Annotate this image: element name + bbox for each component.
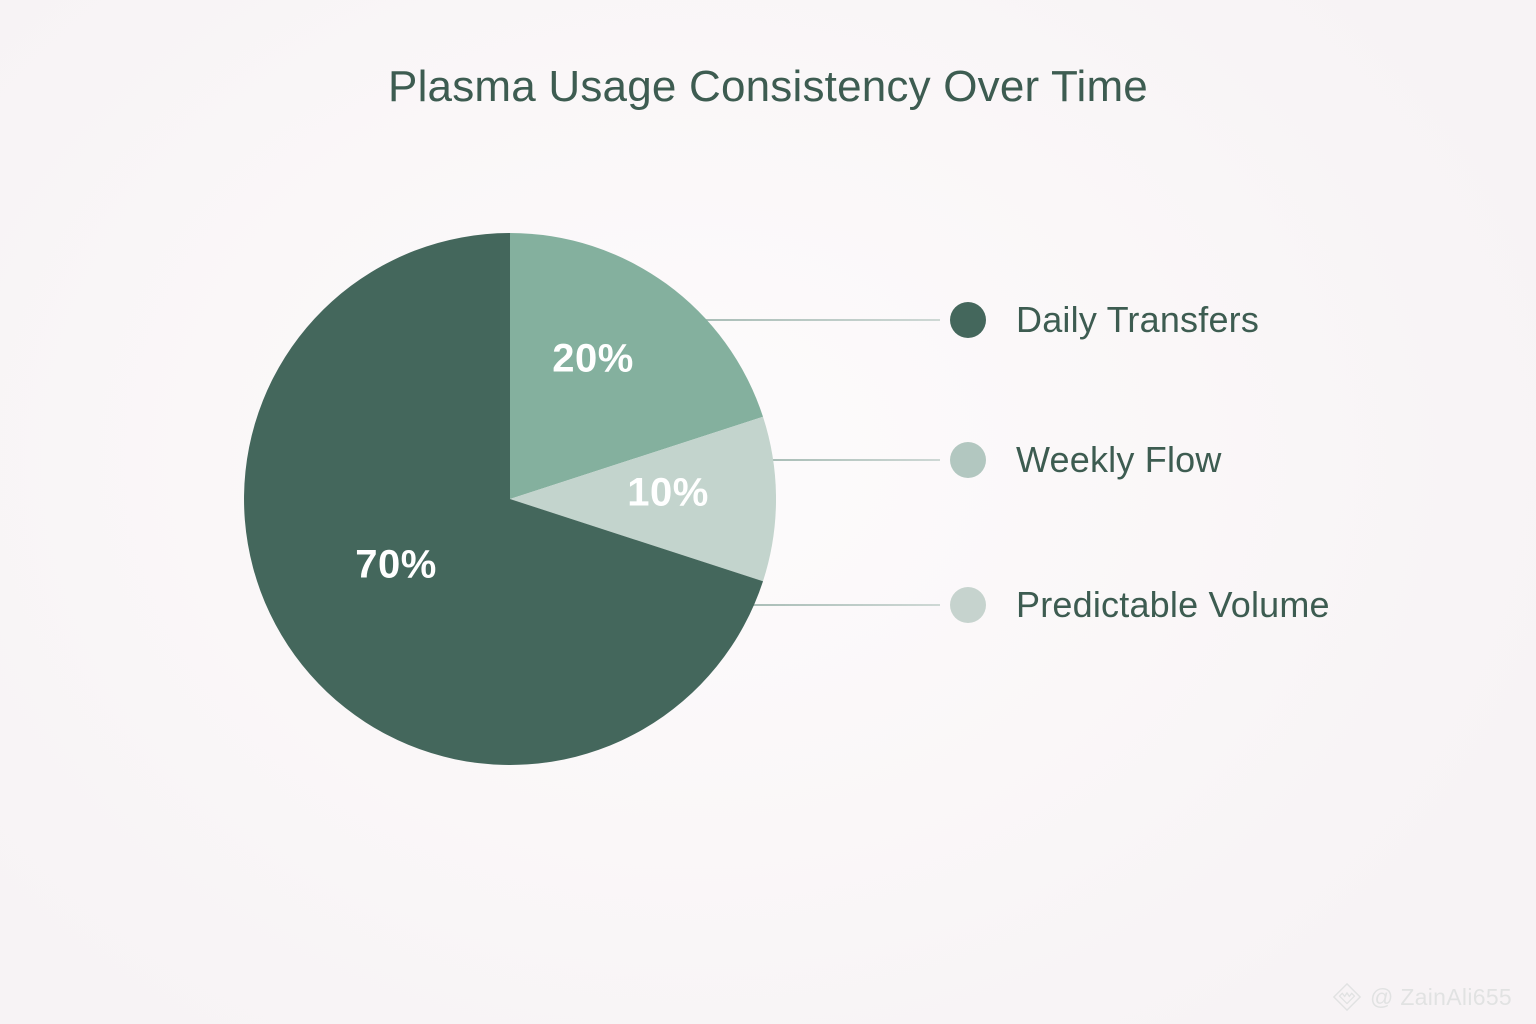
pie-label-weekly-flow: 20% <box>552 337 634 381</box>
pie-label-daily-transfers: 70% <box>355 543 437 587</box>
legend-swatch-icon <box>950 587 986 623</box>
page-title: Plasma Usage Consistency Over Time <box>0 62 1536 112</box>
watermark: @ ZainAli655 <box>1332 982 1512 1012</box>
legend-item-weekly-flow[interactable]: Weekly Flow <box>950 430 1222 490</box>
legend-item-label: Predictable Volume <box>1016 584 1330 626</box>
pie-label-predictable-volume: 10% <box>627 471 709 515</box>
pie-chart: 20% 10% 70% <box>244 233 776 765</box>
leader-line-weekly-flow <box>772 459 940 461</box>
legend-item-label: Daily Transfers <box>1016 299 1259 341</box>
legend-swatch-icon <box>950 442 986 478</box>
legend-swatch-icon <box>950 302 986 338</box>
watermark-handle: @ ZainAli655 <box>1370 984 1512 1011</box>
legend-item-predictable-volume[interactable]: Predictable Volume <box>950 575 1330 635</box>
legend-item-daily-transfers[interactable]: Daily Transfers <box>950 290 1259 350</box>
diamond-logo-icon <box>1332 982 1362 1012</box>
chart-canvas: Plasma Usage Consistency Over Time 20% 1… <box>0 0 1536 1024</box>
leader-line-predictable-volume <box>748 604 940 606</box>
legend-item-label: Weekly Flow <box>1016 439 1222 481</box>
